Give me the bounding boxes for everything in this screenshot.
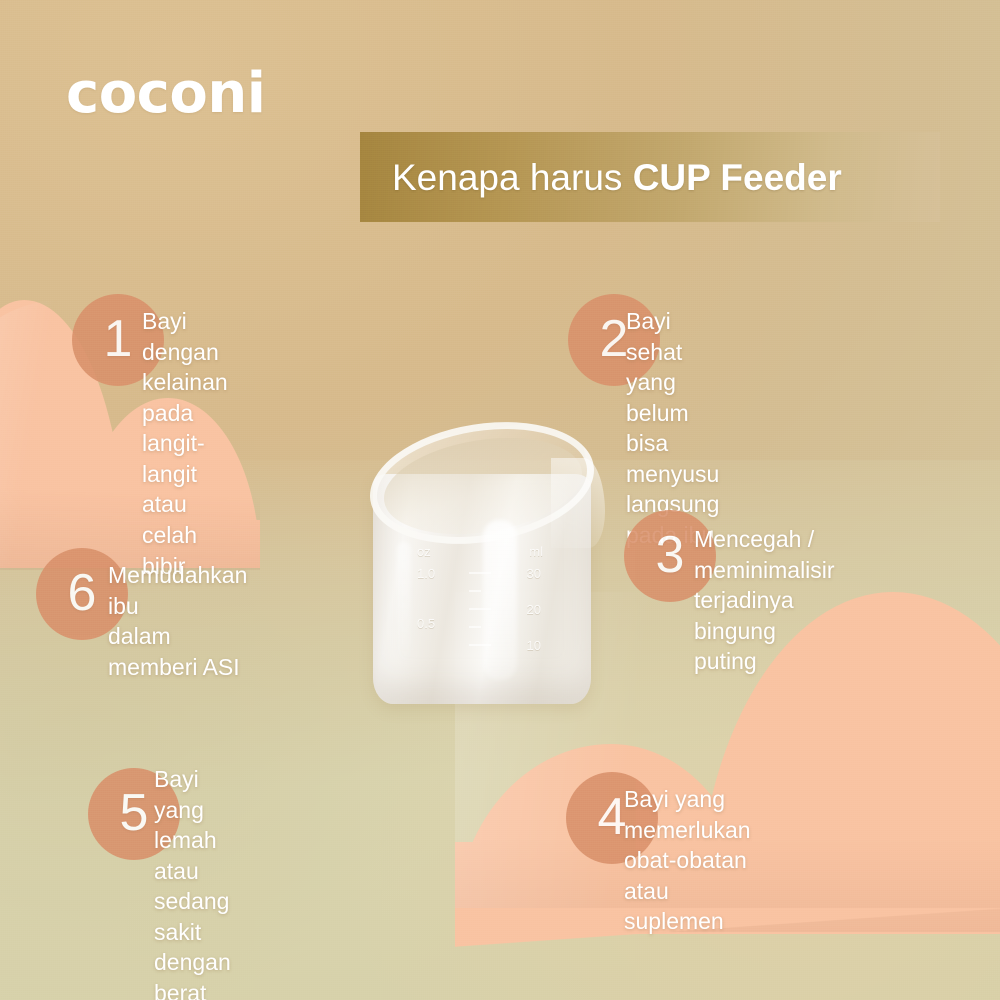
scale-ml-label: 10 — [527, 638, 541, 653]
scale-ml-label: 20 — [527, 602, 541, 617]
scale-tick — [469, 590, 481, 592]
page-title: Kenapa harus CUP Feeder — [360, 159, 842, 196]
scale-tick — [469, 626, 481, 628]
scale-oz-label: 1.0 — [417, 566, 435, 581]
scale-tick — [469, 644, 491, 646]
scale-unit-ml: ml — [529, 544, 543, 559]
number-label: 6 — [68, 567, 97, 619]
scale-ml-label: 30 — [527, 566, 541, 581]
benefit-text: Bayi yang lemah atau sedang sakit dengan… — [154, 764, 231, 1000]
title-banner: Kenapa harus CUP Feeder — [360, 132, 940, 222]
number-label: 3 — [656, 529, 685, 581]
title-bold: CUP Feeder — [633, 157, 842, 198]
number-label: 2 — [600, 313, 629, 365]
scale-tick — [469, 608, 491, 610]
number-label: 5 — [120, 787, 149, 839]
cup-feeder-product-image: oz ml 1.0 0.5 30 20 10 — [357, 424, 609, 706]
number-label: 4 — [598, 791, 627, 843]
cup-spout — [551, 458, 605, 548]
benefit-text: Bayi yang memerlukan obat-obatan atau su… — [624, 784, 751, 937]
poster: coconi Kenapa harus CUP Feeder oz ml 1.0… — [0, 0, 1000, 1000]
benefit-text: Bayi dengan kelainan pada langit-langit … — [142, 306, 228, 581]
number-label: 1 — [104, 313, 133, 365]
scale-oz-label: 0.5 — [417, 616, 435, 631]
benefit-text: Mencegah / meminimalisir terjadinya bing… — [694, 524, 835, 677]
title-regular: Kenapa harus — [392, 157, 633, 198]
cup-highlight — [397, 542, 411, 662]
scale-unit-oz: oz — [417, 544, 431, 559]
cup-measurement-scale: oz ml 1.0 0.5 30 20 10 — [415, 544, 545, 654]
brand-logo: coconi — [66, 66, 265, 122]
benefit-text: Memudahkan ibu dalam memberi ASI — [108, 560, 247, 682]
scale-tick — [469, 572, 491, 574]
